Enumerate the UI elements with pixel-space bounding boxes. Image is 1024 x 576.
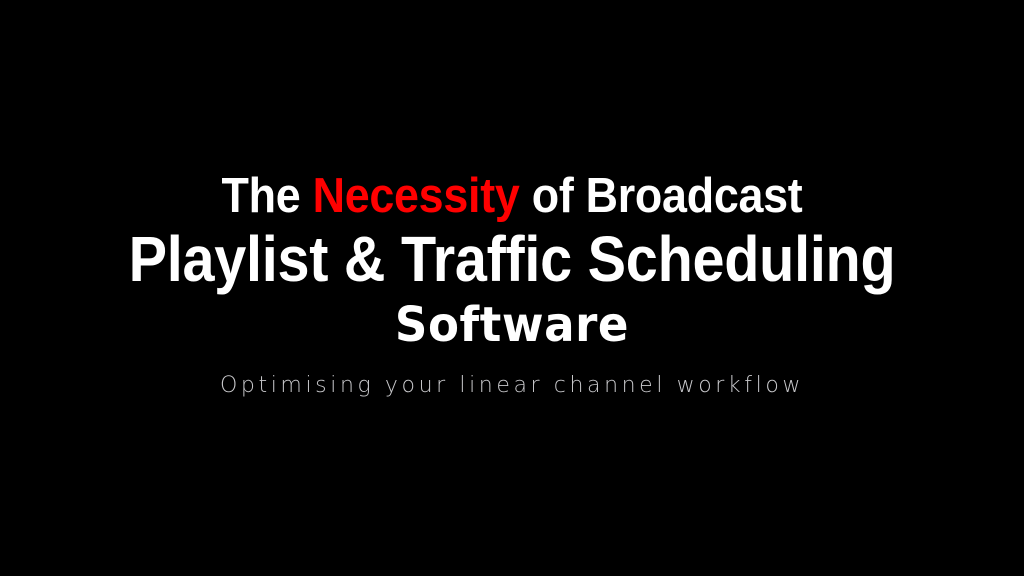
headline-line-2: Playlist & Traffic Scheduling [51, 224, 973, 294]
title-slide: The Necessity of Broadcast Playlist & Tr… [0, 0, 1024, 576]
headline-line-3: Software [31, 294, 994, 356]
headline-line-1: The Necessity of Broadcast [44, 168, 981, 224]
title-block: The Necessity of Broadcast Playlist & Tr… [0, 168, 1024, 356]
slide-subtitle: Optimising your linear channel workflow [0, 371, 1024, 401]
headline-line-1-prefix: The [222, 169, 313, 223]
headline-accent-word: Necessity [313, 169, 520, 223]
headline-line-1-suffix: of Broadcast [520, 169, 803, 223]
